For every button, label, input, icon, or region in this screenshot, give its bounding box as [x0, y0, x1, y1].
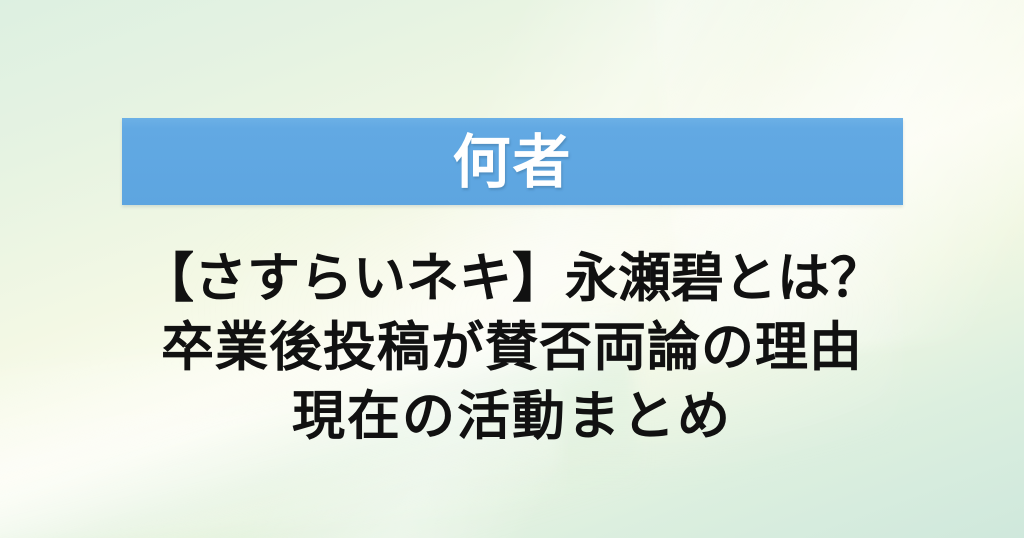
category-banner: 何者	[122, 118, 903, 205]
category-banner-label: 何者	[452, 133, 572, 191]
headline-line-3: 現在の活動まとめ	[0, 382, 1024, 451]
headline-line-2: 卒業後投稿が賛否両論の理由	[0, 313, 1024, 382]
headline-block: 【さすらいネキ】永瀬碧とは？ 卒業後投稿が賛否両論の理由 現在の活動まとめ	[0, 244, 1024, 451]
article-thumbnail-card: 何者 【さすらいネキ】永瀬碧とは？ 卒業後投稿が賛否両論の理由 現在の活動まとめ	[0, 0, 1024, 538]
headline-line-1: 【さすらいネキ】永瀬碧とは？	[0, 244, 1024, 313]
